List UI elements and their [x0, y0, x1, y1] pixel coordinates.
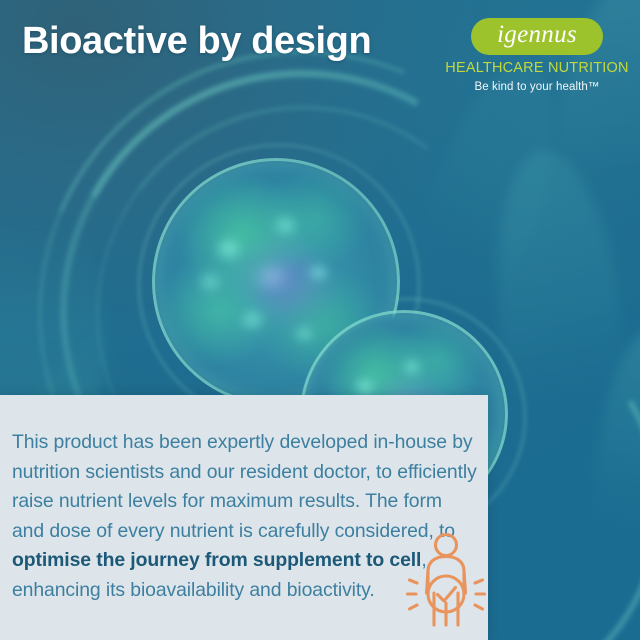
page-title: Bioactive by design	[22, 22, 371, 62]
brand-tagline: Be kind to your health™	[444, 81, 630, 93]
person-with-check-belly-icon	[404, 531, 488, 635]
brand-logo[interactable]: igennus HEALTHCARE NUTRITION Be kind to …	[444, 18, 630, 93]
poster-canvas: Bioactive by design igennus HEALTHCARE N…	[0, 0, 640, 640]
brand-name: igennus	[471, 18, 603, 55]
description-emphasis: optimise the journey from supplement to …	[12, 549, 421, 571]
icon-rays-right	[475, 580, 485, 609]
icon-head	[436, 535, 457, 556]
brand-subtitle: HEALTHCARE NUTRITION	[444, 60, 630, 76]
icon-rays-left	[408, 580, 418, 609]
icon-checkmark	[438, 588, 456, 602]
description-part-one: This product has been expertly developed…	[12, 431, 477, 542]
